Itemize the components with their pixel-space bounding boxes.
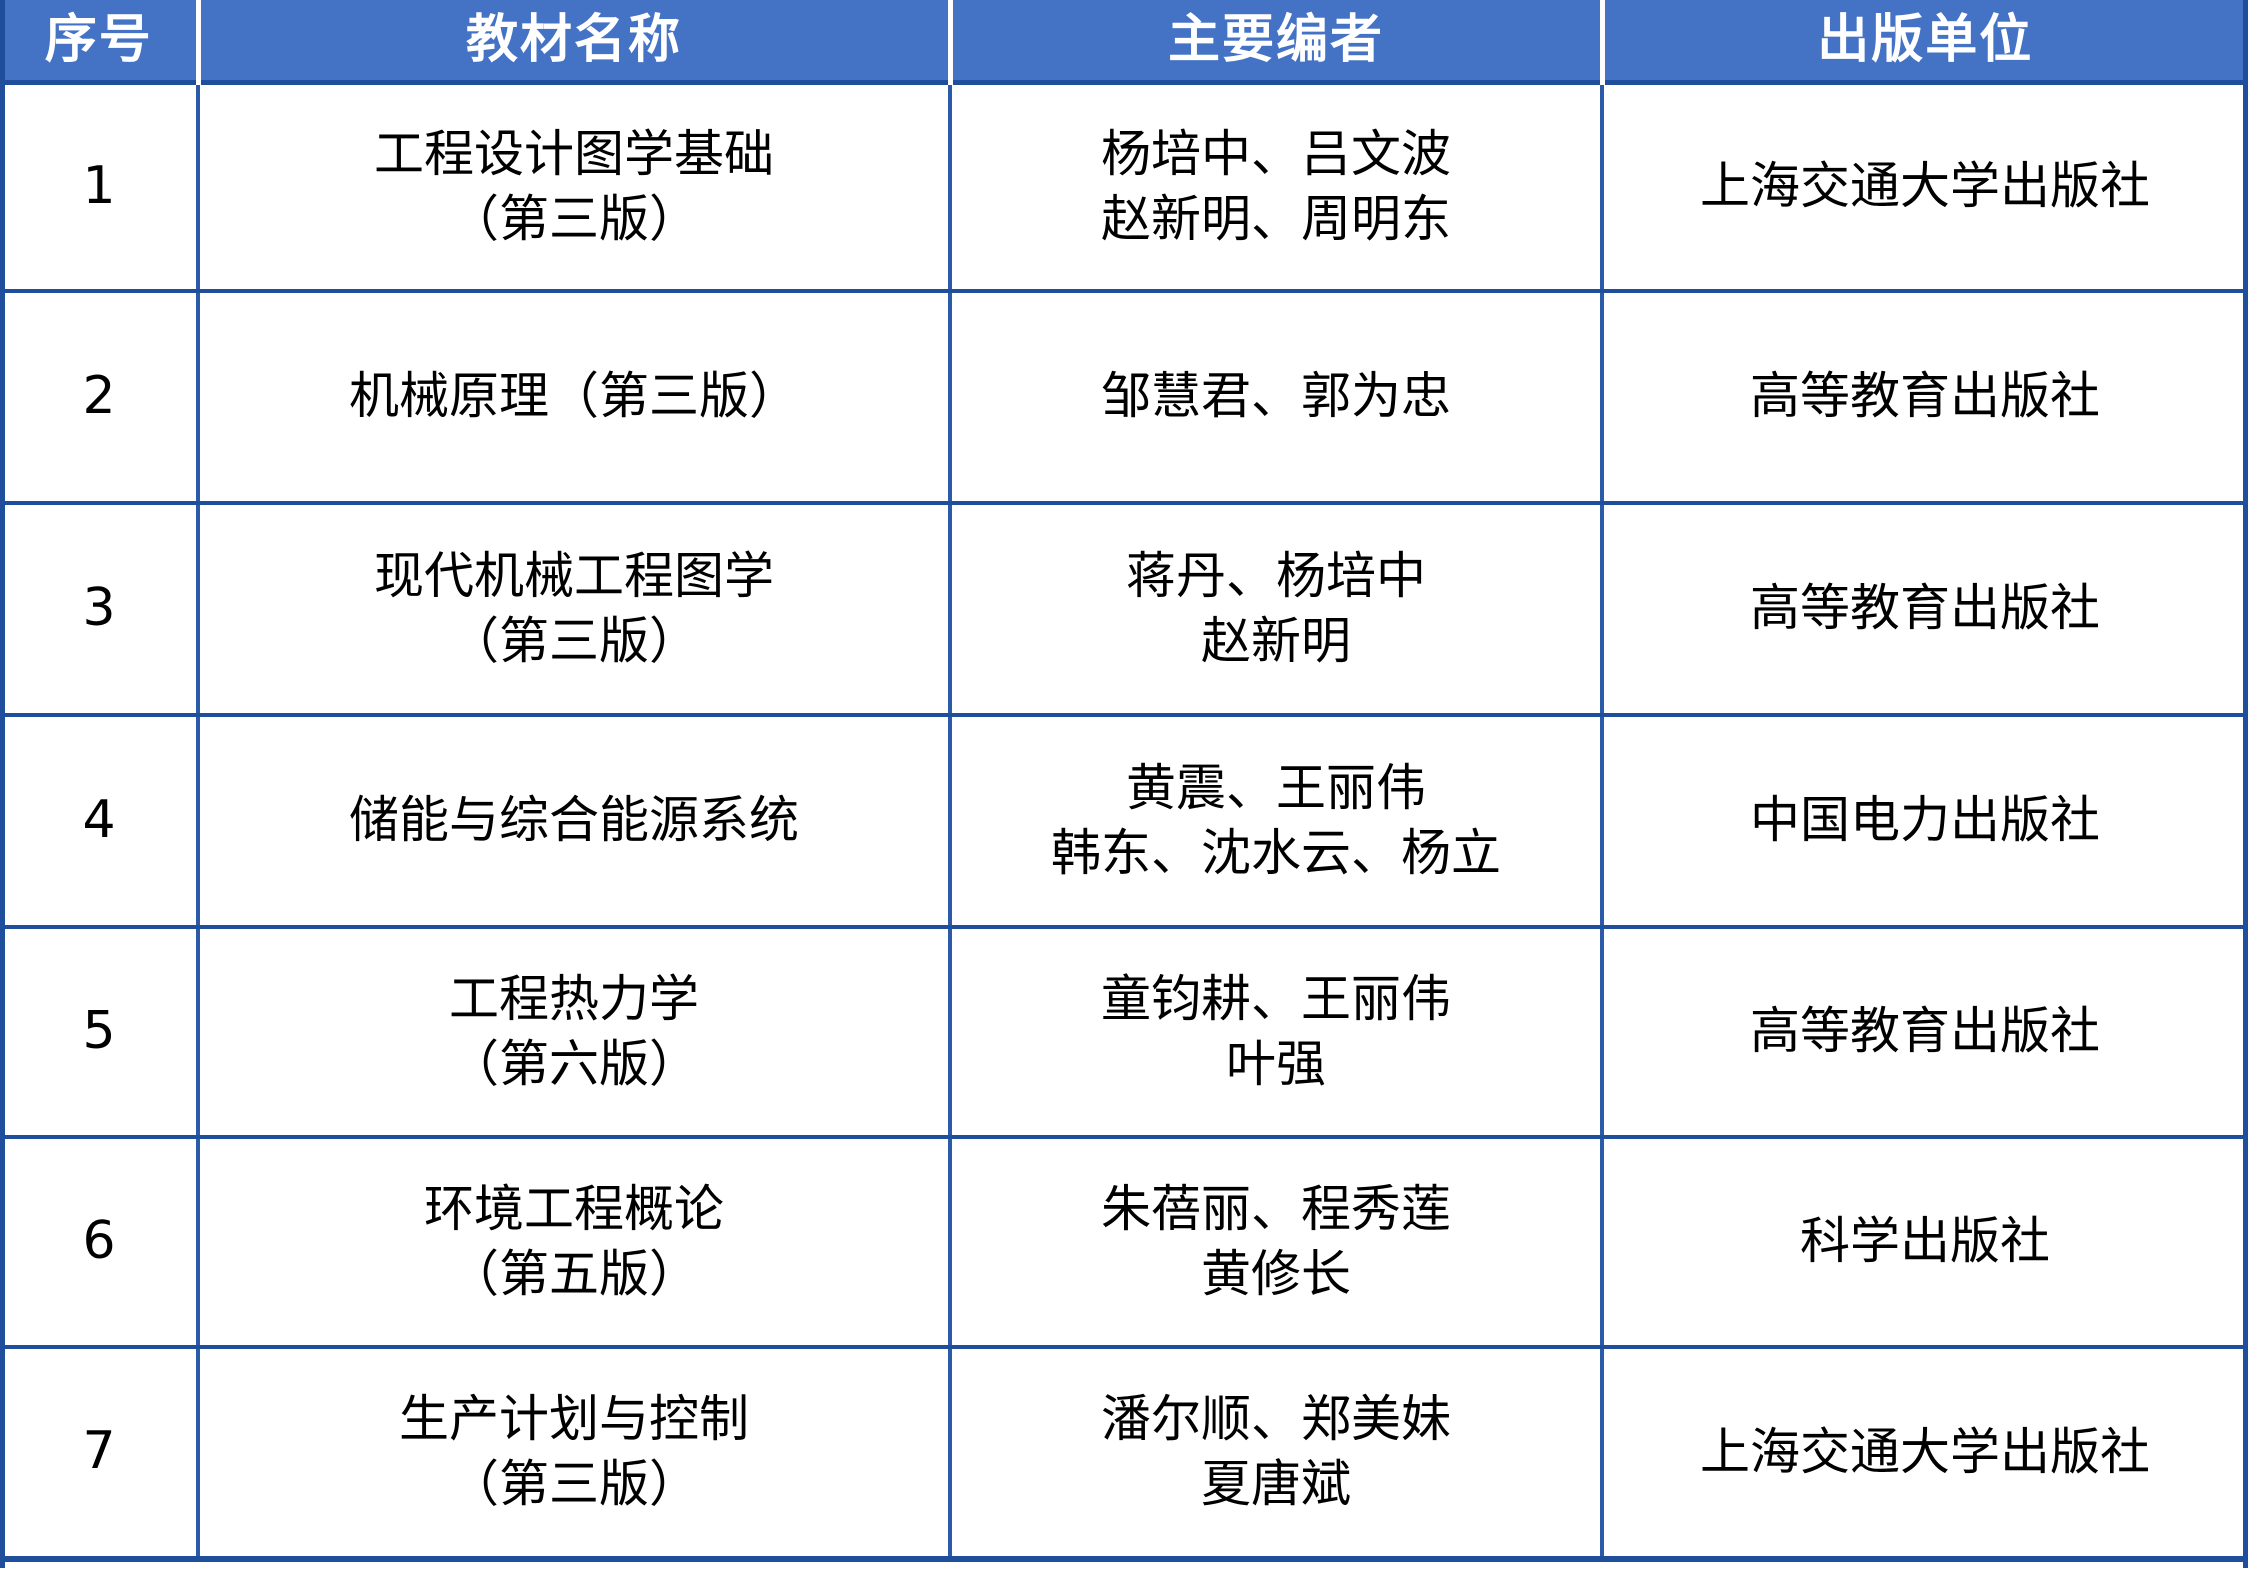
- table-outer-right-border: [2243, 0, 2248, 1568]
- table-body: 1 工程设计图学基础 （第三版） 杨培中、吕文波 赵新明、周明东 上海交通大学出…: [2, 83, 2246, 1559]
- cell-editors-line: 邹慧君、郭为忠: [960, 364, 1592, 429]
- table-outer-left-border: [0, 0, 5, 1568]
- textbook-table: 序号 教材名称 主要编者 出版单位 1 工程设计图学基础 （第三版） 杨培中、吕…: [2, 0, 2246, 1562]
- cell-title-line: 工程设计图学基础: [208, 122, 940, 187]
- cell-editors-line: 黄修长: [960, 1242, 1592, 1307]
- cell-publisher: 上海交通大学出版社: [1602, 1347, 2246, 1559]
- textbook-table-container: 序号 教材名称 主要编者 出版单位 1 工程设计图学基础 （第三版） 杨培中、吕…: [0, 0, 2248, 1562]
- cell-index: 1: [2, 83, 198, 291]
- cell-editors-line: 夏唐斌: [960, 1452, 1592, 1517]
- cell-title-line: 环境工程概论: [208, 1177, 940, 1242]
- cell-title: 工程热力学 （第六版）: [198, 927, 950, 1137]
- cell-title: 储能与综合能源系统: [198, 715, 950, 927]
- cell-editors: 朱蓓丽、程秀莲 黄修长: [950, 1137, 1602, 1347]
- cell-editors: 童钧耕、王丽伟 叶强: [950, 927, 1602, 1137]
- cell-editors-line: 童钧耕、王丽伟: [960, 967, 1592, 1032]
- column-header-title: 教材名称: [198, 0, 950, 83]
- cell-publisher: 高等教育出版社: [1602, 291, 2246, 503]
- cell-editors: 杨培中、吕文波 赵新明、周明东: [950, 83, 1602, 291]
- cell-publisher-line: 高等教育出版社: [1612, 364, 2238, 429]
- cell-index: 6: [2, 1137, 198, 1347]
- cell-publisher: 高等教育出版社: [1602, 927, 2246, 1137]
- column-header-publisher: 出版单位: [1602, 0, 2246, 83]
- cell-index: 5: [2, 927, 198, 1137]
- cell-editors-line: 赵新明、周明东: [960, 187, 1592, 252]
- cell-index: 3: [2, 503, 198, 715]
- cell-title-line: 生产计划与控制: [208, 1387, 940, 1452]
- cell-editors: 邹慧君、郭为忠: [950, 291, 1602, 503]
- table-row: 3 现代机械工程图学 （第三版） 蒋丹、杨培中 赵新明 高等教育出版社: [2, 503, 2246, 715]
- cell-title: 现代机械工程图学 （第三版）: [198, 503, 950, 715]
- table-row: 5 工程热力学 （第六版） 童钧耕、王丽伟 叶强 高等教育出版社: [2, 927, 2246, 1137]
- cell-title-line: （第六版）: [208, 1032, 940, 1097]
- cell-editors-line: 赵新明: [960, 609, 1592, 674]
- table-header-row: 序号 教材名称 主要编者 出版单位: [2, 0, 2246, 83]
- cell-title: 工程设计图学基础 （第三版）: [198, 83, 950, 291]
- cell-title: 机械原理（第三版）: [198, 291, 950, 503]
- cell-publisher: 中国电力出版社: [1602, 715, 2246, 927]
- cell-title-line: 现代机械工程图学: [208, 544, 940, 609]
- page: 序号 教材名称 主要编者 出版单位 1 工程设计图学基础 （第三版） 杨培中、吕…: [0, 0, 2248, 1590]
- cell-title-line: （第五版）: [208, 1242, 940, 1307]
- cell-index: 4: [2, 715, 198, 927]
- cell-index: 7: [2, 1347, 198, 1559]
- table-row: 4 储能与综合能源系统 黄震、王丽伟 韩东、沈水云、杨立 中国电力出版社: [2, 715, 2246, 927]
- cell-publisher-line: 上海交通大学出版社: [1612, 1420, 2238, 1485]
- cell-index: 2: [2, 291, 198, 503]
- cell-publisher: 科学出版社: [1602, 1137, 2246, 1347]
- table-row: 6 环境工程概论 （第五版） 朱蓓丽、程秀莲 黄修长 科学出版社: [2, 1137, 2246, 1347]
- cell-title: 环境工程概论 （第五版）: [198, 1137, 950, 1347]
- cell-title-line: （第三版）: [208, 187, 940, 252]
- cell-editors-line: 朱蓓丽、程秀莲: [960, 1177, 1592, 1242]
- cell-publisher: 上海交通大学出版社: [1602, 83, 2246, 291]
- table-row: 7 生产计划与控制 （第三版） 潘尔顺、郑美妹 夏唐斌 上海交通大学出版社: [2, 1347, 2246, 1559]
- cell-editors: 黄震、王丽伟 韩东、沈水云、杨立: [950, 715, 1602, 927]
- cell-editors-line: 叶强: [960, 1032, 1592, 1097]
- cell-title: 生产计划与控制 （第三版）: [198, 1347, 950, 1559]
- cell-publisher-line: 中国电力出版社: [1612, 788, 2238, 853]
- cell-title-line: 储能与综合能源系统: [208, 788, 940, 853]
- cell-title-line: （第三版）: [208, 1452, 940, 1517]
- cell-publisher-line: 上海交通大学出版社: [1612, 154, 2238, 219]
- cell-publisher-line: 高等教育出版社: [1612, 999, 2238, 1064]
- cell-editors-line: 蒋丹、杨培中: [960, 544, 1592, 609]
- cell-publisher: 高等教育出版社: [1602, 503, 2246, 715]
- table-row: 1 工程设计图学基础 （第三版） 杨培中、吕文波 赵新明、周明东 上海交通大学出…: [2, 83, 2246, 291]
- cell-editors: 蒋丹、杨培中 赵新明: [950, 503, 1602, 715]
- cell-publisher-line: 高等教育出版社: [1612, 576, 2238, 641]
- cell-title-line: 工程热力学: [208, 967, 940, 1032]
- cell-editors-line: 黄震、王丽伟: [960, 756, 1592, 821]
- cell-title-line: 机械原理（第三版）: [208, 364, 940, 429]
- column-header-editors: 主要编者: [950, 0, 1602, 83]
- column-header-index: 序号: [2, 0, 198, 83]
- cell-editors: 潘尔顺、郑美妹 夏唐斌: [950, 1347, 1602, 1559]
- cell-editors-line: 韩东、沈水云、杨立: [960, 821, 1592, 886]
- table-header: 序号 教材名称 主要编者 出版单位: [2, 0, 2246, 83]
- cell-title-line: （第三版）: [208, 609, 940, 674]
- cell-editors-line: 杨培中、吕文波: [960, 122, 1592, 187]
- cell-publisher-line: 科学出版社: [1612, 1209, 2238, 1274]
- table-row: 2 机械原理（第三版） 邹慧君、郭为忠 高等教育出版社: [2, 291, 2246, 503]
- cell-editors-line: 潘尔顺、郑美妹: [960, 1387, 1592, 1452]
